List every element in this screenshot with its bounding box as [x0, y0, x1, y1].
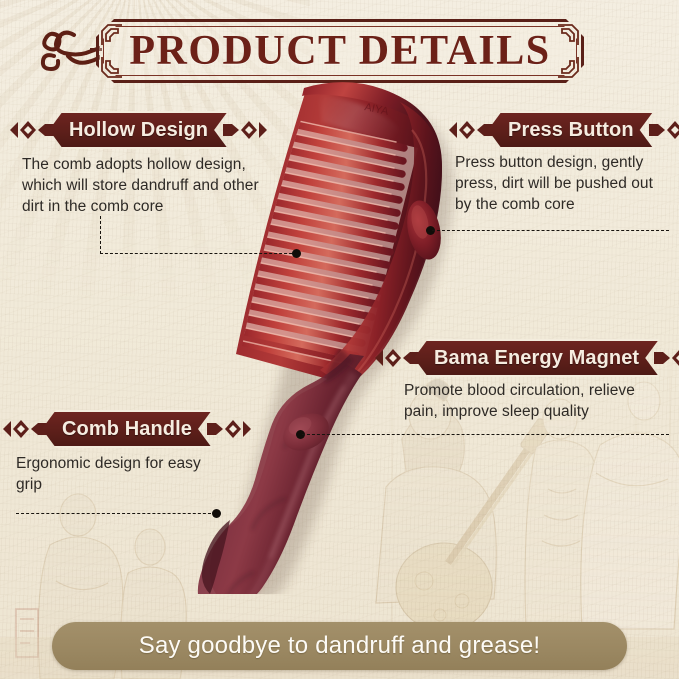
leader-line-hollow-design-vertical	[100, 216, 101, 254]
diamond-chevron-ornament-icon	[375, 343, 419, 373]
diamond-chevron-ornament-icon	[449, 115, 493, 145]
diamond-chevron-ornament-icon	[10, 115, 54, 145]
feature-description-hollow-design: The comb adopts hollow design, which wil…	[22, 154, 274, 217]
feature-description-press-button: Press button design, gently press, dirt …	[455, 152, 671, 215]
feature-ribbon-plate: Bama Energy Magnet	[414, 339, 659, 377]
diamond-chevron-ornament-icon	[649, 115, 679, 145]
footer-tagline-banner: Say goodbye to dandruff and grease!	[52, 622, 627, 670]
diamond-chevron-ornament-icon	[207, 414, 251, 444]
feature-description-bama-energy-magnet: Promote blood circulation, relieve pain,…	[404, 380, 672, 422]
leader-dot-comb-handle	[212, 509, 221, 518]
feature-ribbon-hollow-design: Hollow Design	[10, 113, 267, 147]
cloud-swirl-ornament-icon	[38, 25, 100, 77]
leader-line-press-button	[432, 230, 669, 231]
infographic-canvas: PRODUCT DETAILS	[0, 0, 679, 679]
feature-ribbon-comb-handle: Comb Handle	[3, 412, 251, 446]
leader-line-bama-magnet	[302, 434, 669, 435]
feature-ribbon-plate: Hollow Design	[49, 111, 228, 149]
leader-line-comb-handle	[16, 513, 216, 514]
footer-tagline: Say goodbye to dandruff and grease!	[139, 632, 541, 660]
feature-ribbon-press-button: Press Button	[449, 113, 679, 147]
feature-description-comb-handle: Ergonomic design for easy grip	[16, 453, 216, 495]
diamond-chevron-ornament-icon	[654, 343, 679, 373]
feature-label: Press Button	[508, 119, 634, 142]
leader-dot-hollow-design	[292, 249, 301, 258]
leader-line-hollow-design	[100, 253, 297, 254]
diamond-chevron-ornament-icon	[3, 414, 47, 444]
feature-label: Hollow Design	[69, 119, 208, 142]
feature-label: Comb Handle	[62, 418, 192, 441]
feature-ribbon-bama-energy-magnet: Bama Energy Magnet	[375, 341, 679, 375]
diamond-chevron-ornament-icon	[223, 115, 267, 145]
feature-ribbon-plate: Press Button	[488, 111, 654, 149]
feature-ribbon-plate: Comb Handle	[42, 410, 212, 448]
feature-label: Bama Energy Magnet	[434, 347, 639, 370]
